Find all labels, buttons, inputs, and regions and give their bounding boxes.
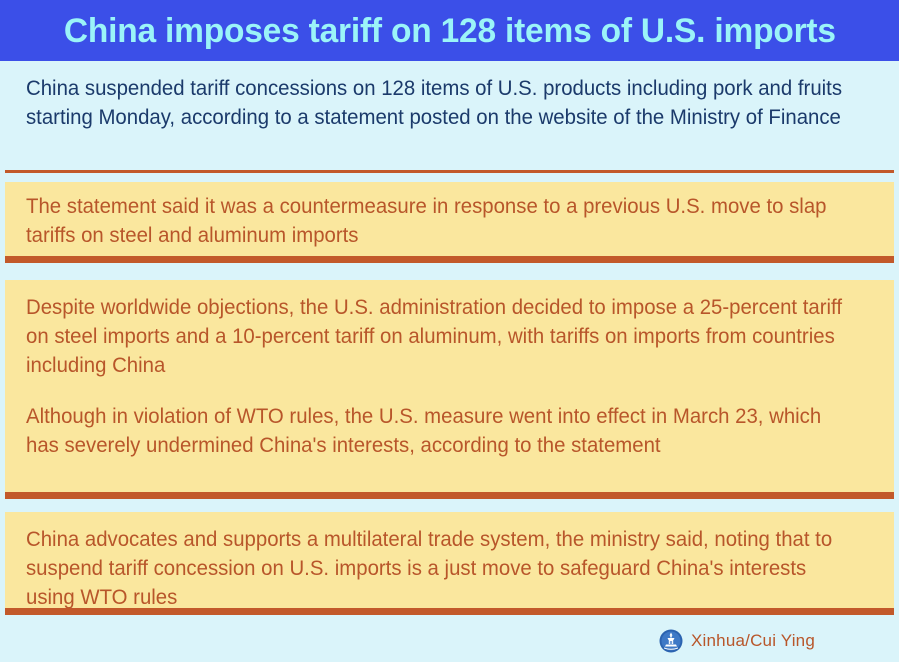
xinhua-logo-icon bbox=[659, 629, 683, 653]
divider-4 bbox=[5, 608, 894, 615]
divider-3 bbox=[5, 492, 894, 499]
paragraph-3-1: Despite worldwide objections, the U.S. a… bbox=[26, 293, 848, 380]
infographic-canvas: China imposes tariff on 128 items of U.S… bbox=[0, 0, 899, 662]
credit-label: Xinhua/Cui Ying bbox=[691, 631, 815, 651]
paragraph-1-1: China suspended tariff concessions on 12… bbox=[26, 74, 848, 132]
page-title: China imposes tariff on 128 items of U.S… bbox=[64, 14, 836, 48]
title-bar: China imposes tariff on 128 items of U.S… bbox=[0, 0, 899, 61]
content-block-2: The statement said it was a countermeasu… bbox=[5, 182, 894, 256]
content-block-1: China suspended tariff concessions on 12… bbox=[5, 64, 894, 157]
paragraph-2-1: The statement said it was a countermeasu… bbox=[26, 192, 848, 250]
divider-1 bbox=[5, 170, 894, 173]
paragraph-4-1: China advocates and supports a multilate… bbox=[26, 525, 848, 612]
credit-group: Xinhua/Cui Ying bbox=[659, 629, 815, 653]
paragraph-3-2: Although in violation of WTO rules, the … bbox=[26, 402, 848, 460]
footer-bar: Xinhua/Cui Ying bbox=[0, 620, 899, 662]
divider-2 bbox=[5, 256, 894, 263]
content-block-4: China advocates and supports a multilate… bbox=[5, 512, 894, 608]
content-block-3: Despite worldwide objections, the U.S. a… bbox=[5, 280, 894, 492]
